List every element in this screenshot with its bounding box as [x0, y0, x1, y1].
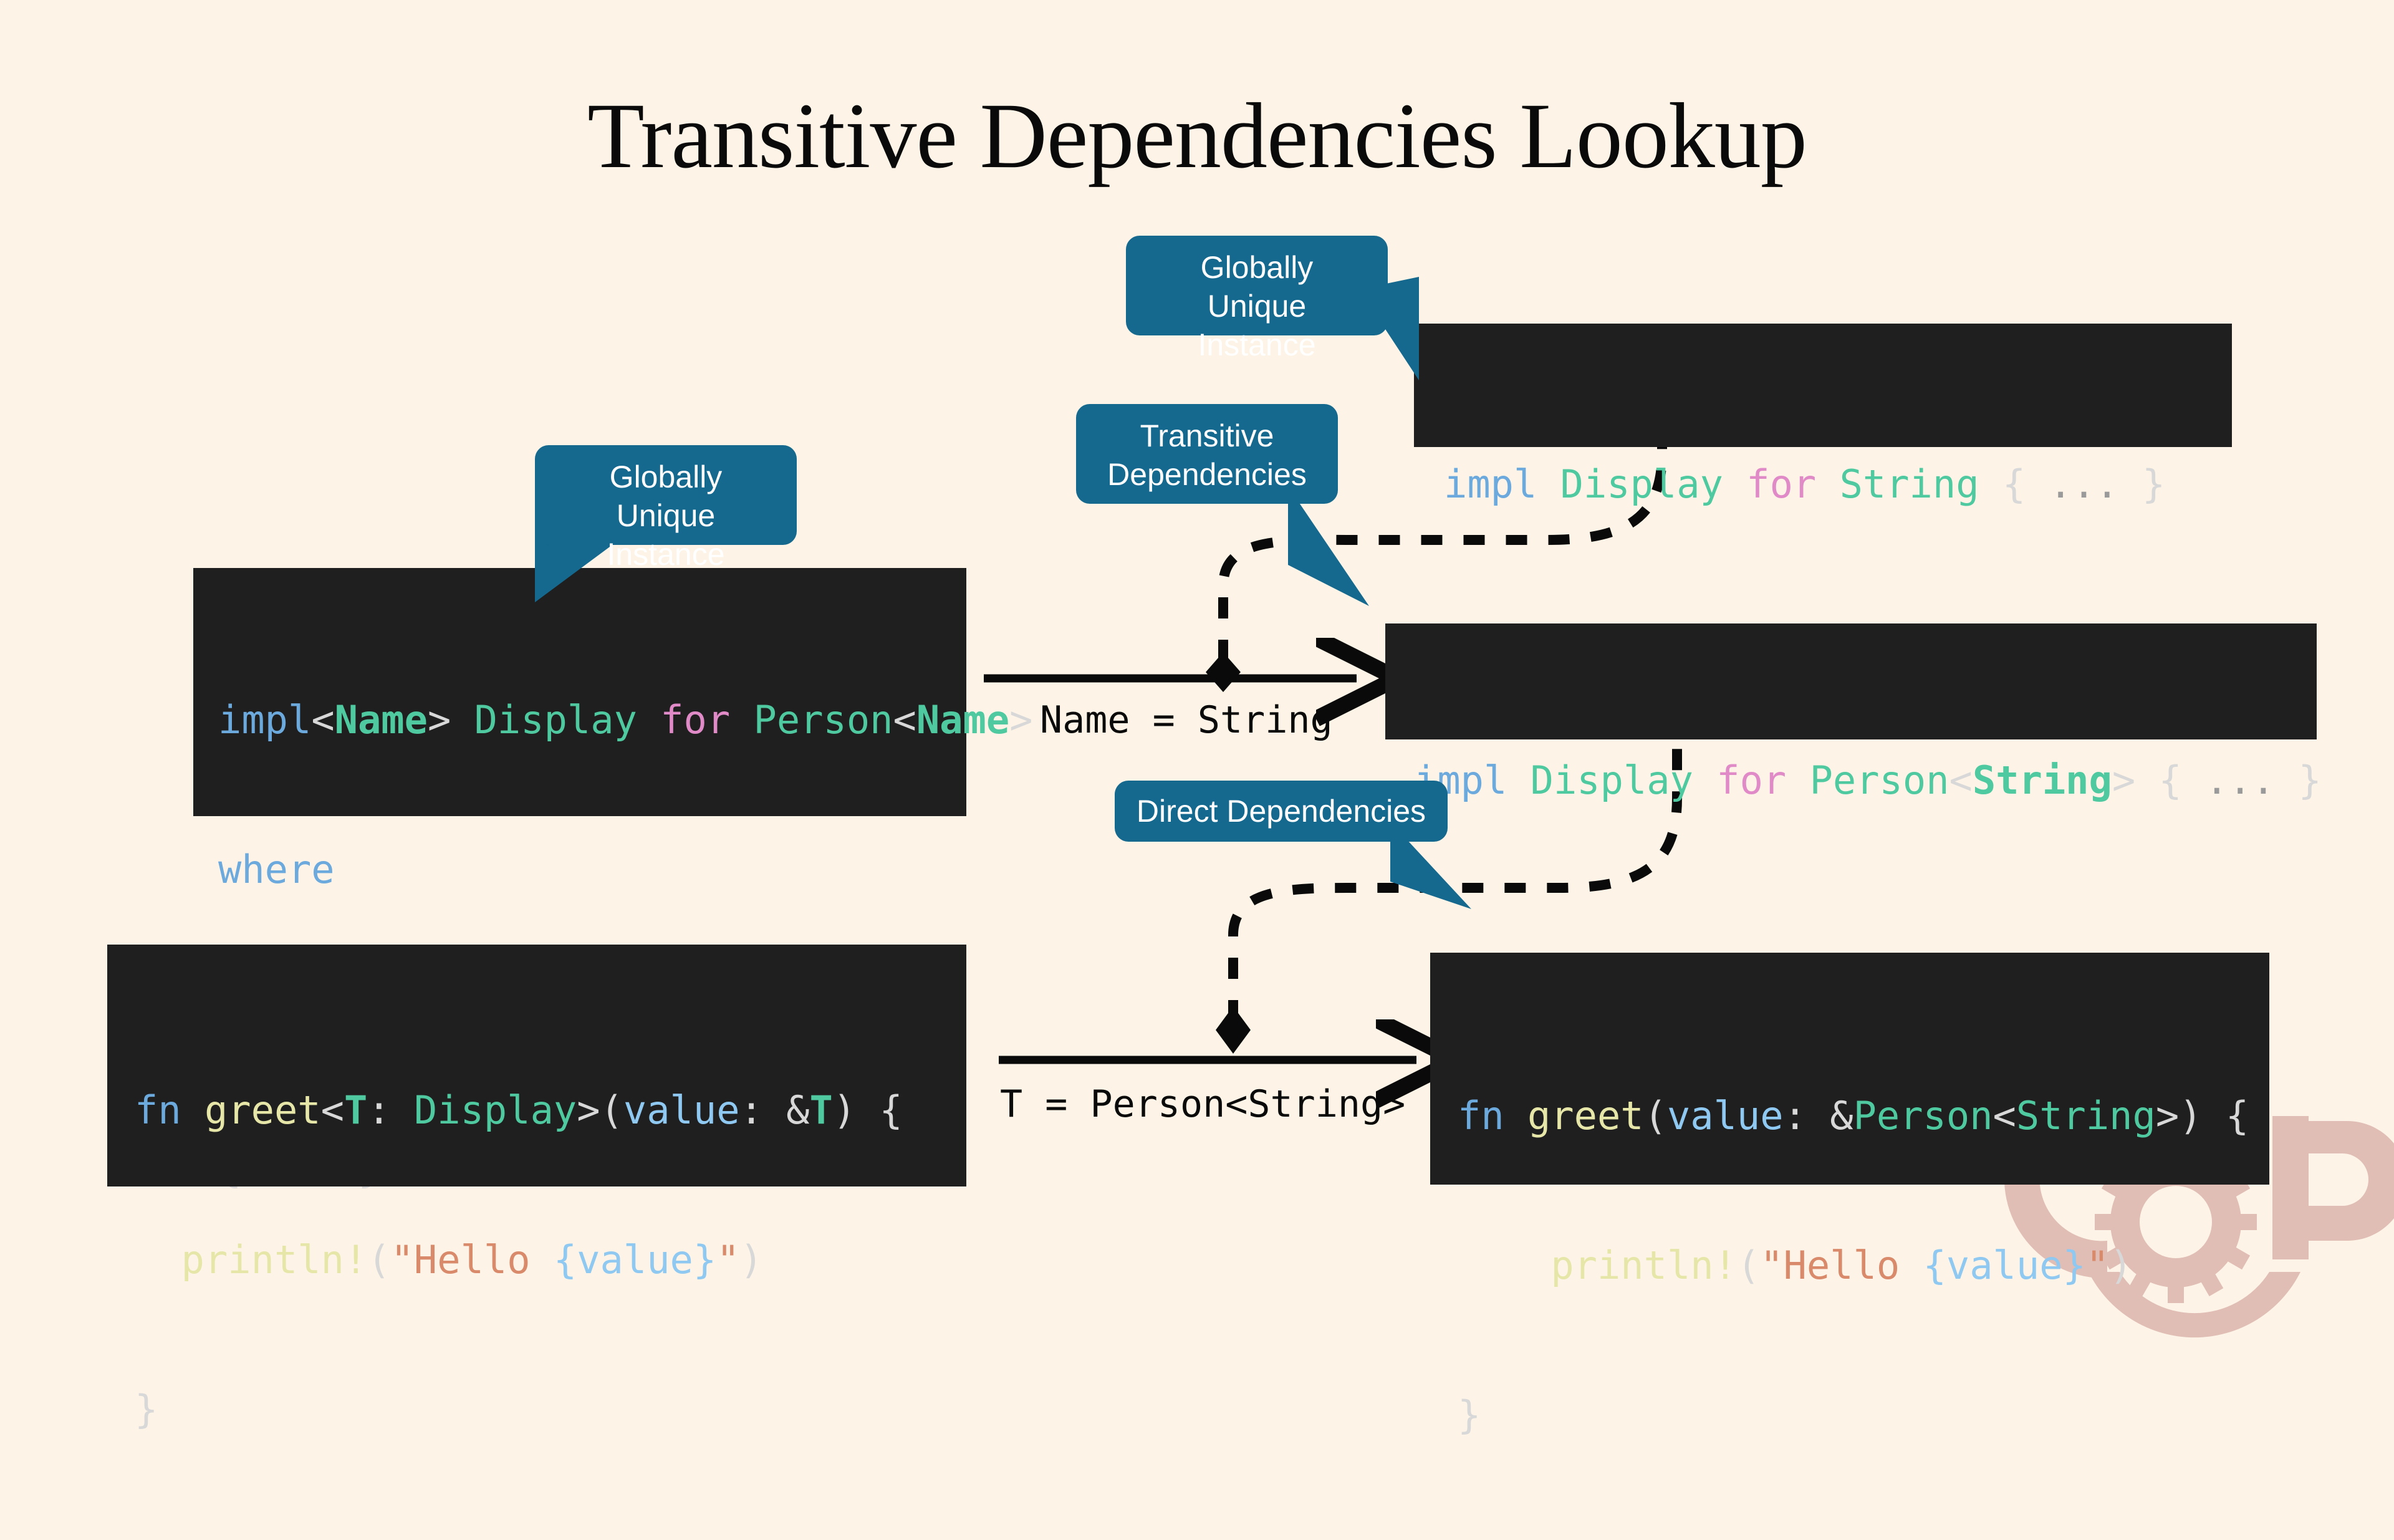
callout-direct-dependencies: Direct Dependencies — [1115, 781, 1448, 842]
callout-tail-transitive-dependencies — [1288, 486, 1413, 611]
code-line: fn greet(value: &Person<String>) { — [1458, 1091, 2242, 1141]
code-line: impl<Name> Display for Person<Name> — [218, 695, 941, 745]
code-line: println!("Hello {value}") — [135, 1235, 939, 1285]
callout-globally-unique-instance-top: Globally Unique Instance — [1126, 236, 1388, 335]
t-substitution-label: T = Person<String> — [1000, 1082, 1405, 1126]
code-line: } — [135, 1385, 939, 1435]
code-line: println!("Hello {value}") — [1458, 1241, 2242, 1291]
code-line: fn greet<T: Display>(value: &T) { — [135, 1085, 939, 1135]
callout-transitive-dependencies: Transitive Dependencies — [1076, 404, 1338, 504]
callout-label: Globally Unique Instance — [1198, 250, 1315, 362]
code-line: impl Display for Person<String> { ... } — [1414, 756, 2288, 806]
callout-globally-unique-instance-left: Globally Unique Instance — [535, 445, 797, 545]
name-substitution-diamond — [1206, 652, 1241, 692]
code-block-fn-greet-generic: fn greet<T: Display>(value: &T) { printl… — [107, 945, 966, 1186]
t-substitution-diamond — [1216, 1006, 1251, 1054]
callout-label: Globally Unique Instance — [607, 460, 724, 572]
code-line: where — [218, 845, 941, 895]
name-substitution-label: Name = String — [1040, 698, 1333, 742]
code-block-impl-display-person-string: impl Display for Person<String> { ... } — [1385, 623, 2317, 739]
code-block-impl-display-string: impl Display for String { ... } — [1414, 324, 2232, 447]
code-line: impl Display for String { ... } — [1444, 460, 2202, 509]
code-line: } — [1458, 1390, 2242, 1440]
callout-label: Direct Dependencies — [1137, 794, 1426, 829]
callout-label: Transitive Dependencies — [1107, 418, 1307, 492]
slide-canvas: Transitive Dependencies Lookup — [0, 0, 2394, 1347]
code-block-fn-greet-concrete: fn greet(value: &Person<String>) { print… — [1430, 953, 2269, 1185]
